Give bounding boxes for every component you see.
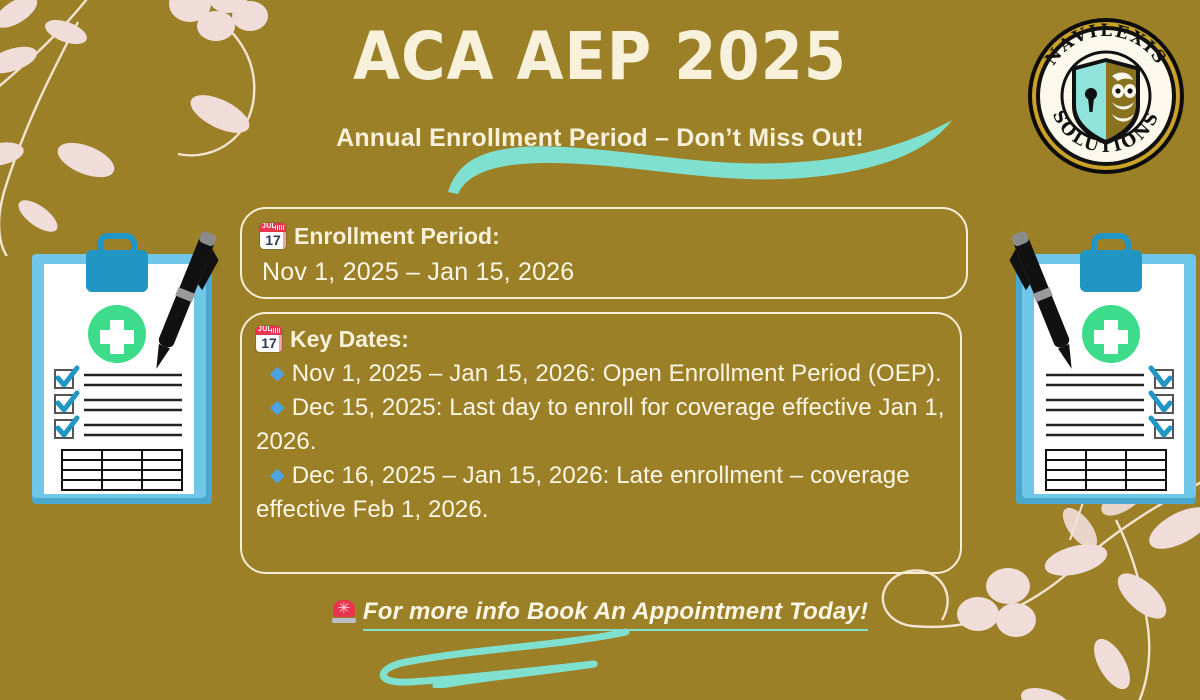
medical-clipboard-illustration-left <box>22 228 248 520</box>
poster-canvas: ACA AEP 2025 Annual Enrollment Period – … <box>0 0 1200 700</box>
poster-header: ACA AEP 2025 Annual Enrollment Period – … <box>0 0 1200 185</box>
enrollment-period-dates: Nov 1, 2025 – Jan 15, 2026 <box>262 258 966 287</box>
list-item-text: Dec 15, 2025: Last day to enroll for cov… <box>256 394 945 455</box>
calendar-day: 17 <box>256 334 282 352</box>
key-dates-heading: Key Dates: <box>290 328 409 351</box>
key-dates-heading-row: JUL 17 Key Dates: <box>256 326 960 352</box>
list-item-text: Nov 1, 2025 – Jan 15, 2026: Open Enrollm… <box>292 360 942 387</box>
key-dates-list: ◆Nov 1, 2025 – Jan 15, 2026: Open Enroll… <box>256 357 960 527</box>
calendar-dots <box>275 225 284 230</box>
calendar-month: JUL <box>262 223 276 230</box>
list-item: ◆Dec 15, 2025: Last day to enroll for co… <box>256 391 960 459</box>
blue-diamond-icon: ◆ <box>270 363 285 384</box>
enrollment-period-heading-row: JUL 17 Enrollment Period: <box>260 223 966 249</box>
list-item-text: Dec 16, 2025 – Jan 15, 2026: Late enroll… <box>256 462 910 523</box>
calendar-day: 17 <box>260 231 286 249</box>
list-item: ◆Dec 16, 2025 – Jan 15, 2026: Late enrol… <box>256 459 960 527</box>
key-dates-box: JUL 17 Key Dates: ◆Nov 1, 2025 – Jan 15,… <box>240 312 962 574</box>
calendar-month: JUL <box>258 326 272 333</box>
calendar-dots <box>271 328 280 333</box>
enrollment-period-heading: Enrollment Period: <box>294 225 500 248</box>
company-logo[interactable]: NAVILEXIS SOLUTIONS <box>1024 14 1188 178</box>
blue-diamond-icon: ◆ <box>270 465 285 486</box>
calendar-icon: JUL 17 <box>260 223 286 249</box>
enrollment-period-box: JUL 17 Enrollment Period: Nov 1, 2025 – … <box>240 207 968 299</box>
list-item: ◆Nov 1, 2025 – Jan 15, 2026: Open Enroll… <box>256 357 960 391</box>
medical-clipboard-illustration-right <box>980 228 1200 520</box>
blue-diamond-icon: ◆ <box>270 397 285 418</box>
swoosh-brush-stroke-icon <box>440 118 960 198</box>
siren-light-icon: ✳ <box>332 599 356 623</box>
cta-row[interactable]: ✳ For more info Book An Appointment Toda… <box>0 598 1200 631</box>
teal-scribble-underline-icon <box>370 628 630 688</box>
calendar-icon: JUL 17 <box>256 326 282 352</box>
page-title: ACA AEP 2025 <box>48 22 1152 91</box>
cta-text[interactable]: For more info Book An Appointment Today! <box>363 598 868 631</box>
